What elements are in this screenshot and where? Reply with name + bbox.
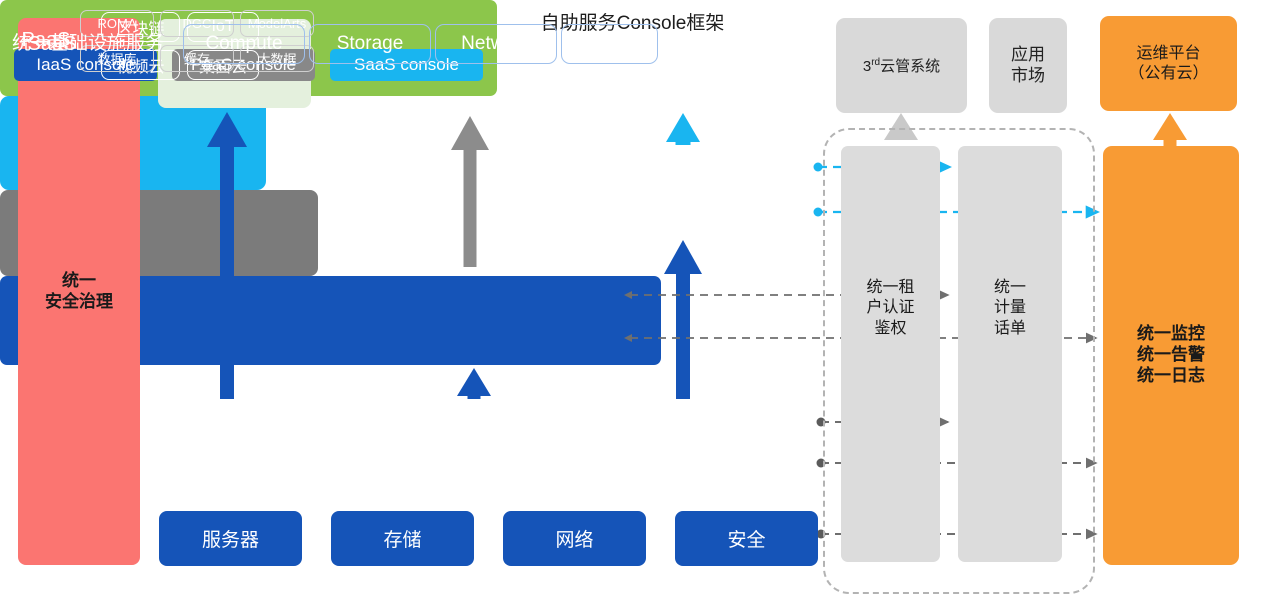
unified-infrastructure-service-label: 统一基础设施服务: [12, 28, 164, 55]
infrastructure-item-compute-label: Compute: [205, 33, 282, 55]
app-market-box[interactable]: 应用 市场: [989, 18, 1067, 113]
infrastructure-item-cce[interactable]: CCE: [561, 24, 658, 64]
infrastructure-item-network[interactable]: Network: [435, 24, 557, 64]
arrow-infra-to-saas: [664, 240, 702, 399]
unified-metering-column[interactable]: [958, 146, 1062, 562]
unified-monitoring-panel[interactable]: 统一监控 统一告警 统一日志: [1103, 146, 1239, 565]
hardware-item-security[interactable]: 安全: [675, 511, 818, 566]
hardware-item-storage[interactable]: 存储: [331, 511, 474, 566]
arrow-paas-to-console: [451, 116, 489, 267]
infrastructure-item-cce-label: CCE: [589, 33, 629, 55]
hardware-item-security-label: 安全: [727, 525, 765, 552]
infrastructure-item-compute[interactable]: Compute: [183, 24, 305, 64]
hardware-item-server-label: 服务器: [202, 525, 259, 552]
ops-platform-label: 运维平台 （公有云）: [1128, 44, 1208, 83]
unified-tenant-auth-column[interactable]: [841, 146, 940, 562]
ops-platform-box[interactable]: 运维平台 （公有云）: [1100, 16, 1237, 111]
arrow-saas-to-console: [666, 113, 700, 145]
unified-security-governance-label: 统一 安全治理: [45, 271, 113, 312]
unified-security-governance-panel[interactable]: 统一 安全治理: [18, 18, 140, 565]
third-party-cloud-management-box[interactable]: 3rd云管系统: [836, 18, 967, 113]
infrastructure-item-storage-label: Storage: [337, 33, 404, 55]
arrow-ops-main-to-platform: [1153, 113, 1187, 146]
third-party-cloud-management-label: 3rd云管系统: [863, 55, 940, 76]
unified-tenant-auth-label: 统一租 户认证 鉴权: [841, 278, 940, 339]
hardware-item-network[interactable]: 网络: [503, 511, 646, 566]
hardware-item-server[interactable]: 服务器: [159, 511, 302, 566]
architecture-diagram: 统一 安全治理 API网关 自助服务Console框架 IaaS console…: [0, 0, 1265, 605]
app-market-label: 应用 市场: [1011, 45, 1045, 86]
hardware-item-storage-label: 存储: [383, 525, 421, 552]
unified-metering-label: 统一 计量 话单: [958, 278, 1062, 339]
infrastructure-item-storage[interactable]: Storage: [309, 24, 431, 64]
infrastructure-item-network-label: Network: [461, 33, 531, 55]
arrow-infra-to-paas: [457, 368, 491, 399]
hardware-item-network-label: 网络: [555, 525, 593, 552]
unified-monitoring-label: 统一监控 统一告警 统一日志: [1137, 324, 1205, 386]
